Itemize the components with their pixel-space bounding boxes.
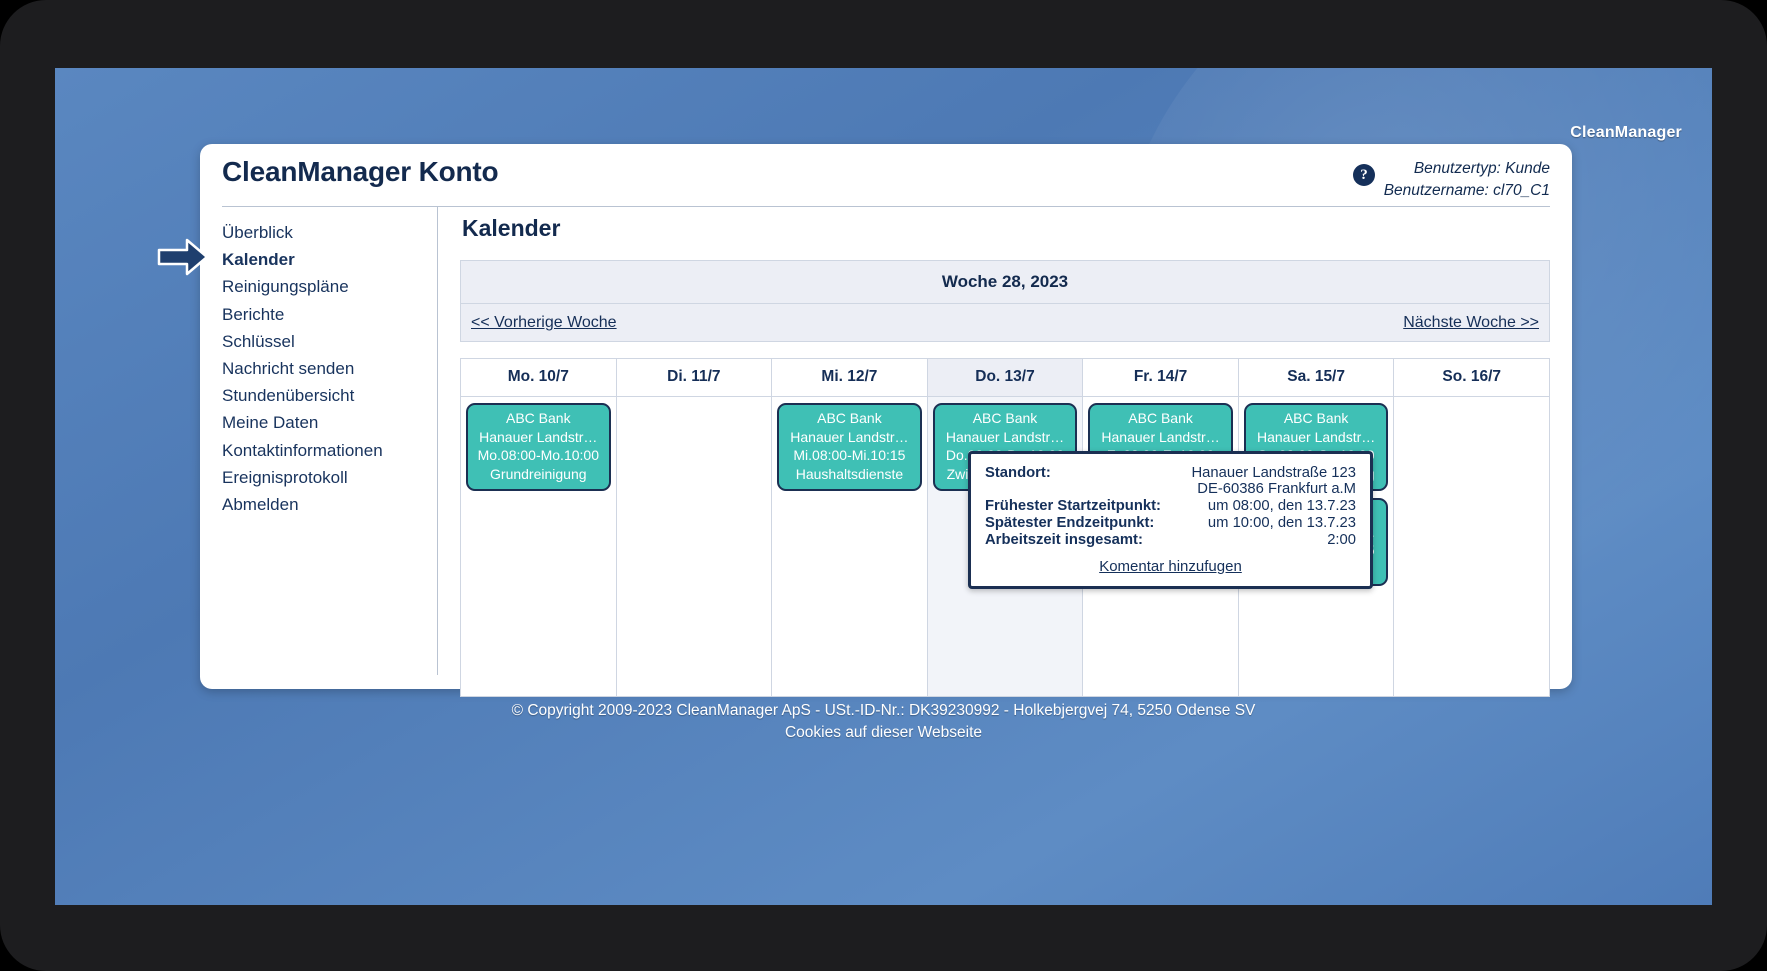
- help-icon[interactable]: ?: [1353, 164, 1375, 186]
- popup-total-label: Arbeitszeit insgesamt:: [985, 532, 1177, 549]
- event-address: Hanauer Landstr…: [1093, 428, 1228, 447]
- day-header-1[interactable]: Di. 11/7: [617, 359, 773, 397]
- popup-location-line2: DE-60386 Frankfurt a.M: [1197, 481, 1356, 497]
- footer-copyright: © Copyright 2009-2023 CleanManager ApS -…: [55, 700, 1712, 722]
- day-cell-2: ABC BankHanauer Landstr…Mi.08:00-Mi.10:1…: [772, 397, 928, 697]
- sidebar-item-berichte[interactable]: Berichte: [222, 301, 438, 328]
- popup-location-value: Hanauer Landstraße 123 DE-60386 Frankfur…: [1177, 465, 1356, 498]
- popup-location-label: Standort:: [985, 465, 1177, 498]
- event-time: Mo.08:00-Mo.10:00: [471, 446, 606, 465]
- add-comment-link[interactable]: Komentar hinzufugen: [1099, 558, 1242, 575]
- prev-week-link[interactable]: << Vorherige Woche: [471, 314, 617, 332]
- day-cell-1: [617, 397, 773, 697]
- sidebar-nav-list: ÜberblickKalenderReinigungspläneBerichte…: [222, 219, 438, 518]
- event-address: Hanauer Landstr…: [782, 428, 917, 447]
- app-body: ÜberblickKalenderReinigungspläneBerichte…: [200, 207, 1572, 689]
- popup-start-label: Frühester Startzeitpunkt:: [985, 498, 1177, 515]
- sidebar-item-nachricht-senden[interactable]: Nachricht senden: [222, 355, 438, 382]
- sidebar-item-kontaktinformationen[interactable]: Kontaktinformationen: [222, 437, 438, 464]
- brand-logo: CleanManager: [1570, 124, 1682, 142]
- sidebar-item-meine-daten[interactable]: Meine Daten: [222, 409, 438, 436]
- sidebar-item-reinigungspl-ne[interactable]: Reinigungspläne: [222, 273, 438, 300]
- popup-end-label: Spätester Endzeitpunkt:: [985, 515, 1177, 532]
- event-address: Hanauer Landstr…: [938, 428, 1073, 447]
- popup-total-value: 2:00: [1177, 532, 1356, 549]
- day-cell-0: ABC BankHanauer Landstr…Mo.08:00-Mo.10:0…: [461, 397, 617, 697]
- popup-row-total: Arbeitszeit insgesamt: 2:00: [985, 532, 1356, 549]
- sidebar-item-abmelden[interactable]: Abmelden: [222, 491, 438, 518]
- content-heading: Kalender: [462, 215, 1550, 242]
- sidebar-divider: [437, 207, 438, 675]
- next-week-link[interactable]: Nächste Woche >>: [1403, 314, 1539, 332]
- day-header-0[interactable]: Mo. 10/7: [461, 359, 617, 397]
- day-header-2[interactable]: Mi. 12/7: [772, 359, 928, 397]
- event-service: Grundreinigung: [471, 465, 606, 484]
- sidebar-item-stunden-bersicht[interactable]: Stundenübersicht: [222, 382, 438, 409]
- week-banner: Woche 28, 2023: [460, 260, 1550, 304]
- sidebar-item--berblick[interactable]: Überblick: [222, 219, 438, 246]
- event-address: Hanauer Landstr…: [471, 428, 606, 447]
- event-customer: ABC Bank: [1093, 409, 1228, 428]
- event-address: Hanauer Landstr…: [1249, 428, 1384, 447]
- event-customer: ABC Bank: [1249, 409, 1384, 428]
- device-bezel: CleanManager CleanManager Konto ? Benutz…: [0, 0, 1767, 971]
- event-time: Mi.08:00-Mi.10:15: [782, 446, 917, 465]
- week-navigation: << Vorherige Woche Nächste Woche >>: [460, 304, 1550, 342]
- event-detail-popup: Standort: Hanauer Landstraße 123 DE-6038…: [968, 451, 1373, 589]
- day-cell-6: [1394, 397, 1550, 697]
- popup-row-comment: Komentar hinzufugen: [985, 549, 1356, 576]
- event-service: Haushaltsdienste: [782, 465, 917, 484]
- main-content: Kalender Woche 28, 2023 << Vorherige Woc…: [438, 207, 1572, 689]
- popup-end-value: um 10:00, den 13.7.23: [1177, 515, 1356, 532]
- event-card[interactable]: ABC BankHanauer Landstr…Mi.08:00-Mi.10:1…: [777, 403, 922, 491]
- user-info: Benutzertyp: Kunde Benutzername: cl70_C1: [1384, 158, 1550, 202]
- event-customer: ABC Bank: [938, 409, 1073, 428]
- app-header: CleanManager Konto ? Benutzertyp: Kunde …: [200, 144, 1572, 207]
- event-customer: ABC Bank: [782, 409, 917, 428]
- sidebar: ÜberblickKalenderReinigungspläneBerichte…: [200, 207, 438, 689]
- calendar-grid: Mo. 10/7Di. 11/7Mi. 12/7Do. 13/7Fr. 14/7…: [460, 358, 1550, 697]
- popup-comment-cell: Komentar hinzufugen: [985, 549, 1356, 576]
- day-header-6[interactable]: So. 16/7: [1394, 359, 1550, 397]
- sidebar-item-kalender[interactable]: Kalender: [222, 246, 438, 273]
- day-header-4[interactable]: Fr. 14/7: [1083, 359, 1239, 397]
- popup-start-value: um 08:00, den 13.7.23: [1177, 498, 1356, 515]
- sidebar-item-ereignisprotokoll[interactable]: Ereignisprotokoll: [222, 464, 438, 491]
- sidebar-item-schl-ssel[interactable]: Schlüssel: [222, 328, 438, 355]
- event-customer: ABC Bank: [471, 409, 606, 428]
- day-header-5[interactable]: Sa. 15/7: [1239, 359, 1395, 397]
- popup-row-end: Spätester Endzeitpunkt: um 10:00, den 13…: [985, 515, 1356, 532]
- page-title: CleanManager Konto: [222, 156, 1550, 188]
- app-window: CleanManager Konto ? Benutzertyp: Kunde …: [200, 144, 1572, 689]
- day-header-3[interactable]: Do. 13/7: [928, 359, 1084, 397]
- event-card[interactable]: ABC BankHanauer Landstr…Mo.08:00-Mo.10:0…: [466, 403, 611, 491]
- footer: © Copyright 2009-2023 CleanManager ApS -…: [55, 700, 1712, 745]
- popup-row-location: Standort: Hanauer Landstraße 123 DE-6038…: [985, 465, 1356, 498]
- popup-location-line1: Hanauer Landstraße 123: [1191, 465, 1356, 481]
- footer-cookies-link[interactable]: Cookies auf dieser Webseite: [55, 722, 1712, 744]
- popup-row-start: Frühester Startzeitpunkt: um 08:00, den …: [985, 498, 1356, 515]
- arrow-right-icon: [157, 237, 209, 277]
- popup-detail-table: Standort: Hanauer Landstraße 123 DE-6038…: [985, 465, 1356, 576]
- user-type: Benutzertyp: Kunde: [1384, 158, 1550, 180]
- browser-viewport: CleanManager CleanManager Konto ? Benutz…: [55, 68, 1712, 905]
- user-name: Benutzername: cl70_C1: [1384, 180, 1550, 202]
